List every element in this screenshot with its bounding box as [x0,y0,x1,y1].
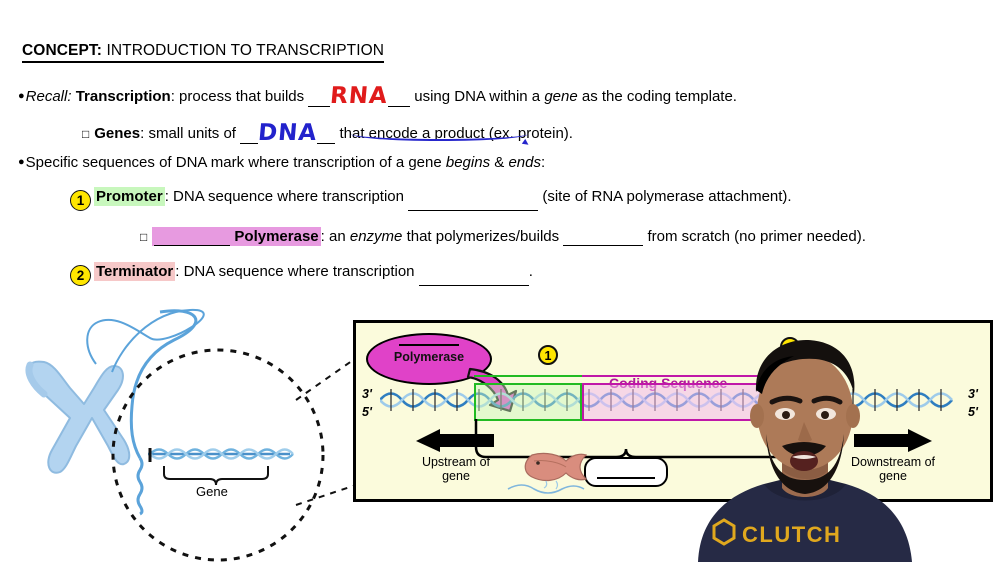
lecture-notes: CONCEPT: INTRODUCTION TO TRANSCRIPTION R… [0,0,1000,300]
promoter-region-box [474,383,582,421]
polymerase-callout-label: Polymerase [368,350,490,364]
page-title: CONCEPT: INTRODUCTION TO TRANSCRIPTION [22,42,384,63]
concept-title-text: INTRODUCTION TO TRANSCRIPTION [106,42,384,59]
salmon-fish-icon [502,449,612,495]
note-line-terminator: 2Terminator: DNA sequence where transcri… [70,264,533,286]
line5-text-after: : an [321,228,346,245]
line3-text: Specific sequences of DNA mark where tra… [26,154,442,171]
line4-text-before: : DNA sequence where transcription [165,188,404,205]
line2-text-before: : small units of [140,125,236,142]
polymerase-blank-line [399,344,459,346]
genes-term: Genes [94,125,140,142]
instructor-video-overlay[interactable]: CLUTCH [690,330,920,562]
line5-text-mid: that polymerizes/builds [407,228,560,245]
line3-amp: & [494,154,504,171]
line3-italic-ends: ends [508,154,541,171]
panel-marker-1: 1 [538,345,558,365]
prime-5-right: 5' [968,405,978,419]
note-line-polymerase: Polymerase: an enzyme that polymerizes/b… [140,229,866,246]
line3-colon: : [541,154,545,171]
handwritten-rna-answer: RNA [329,84,389,109]
line1-italic-gene: gene [544,88,577,105]
note-line-recall: Recall: Transcription: process that buil… [18,82,737,107]
marker-2-circle: 2 [70,265,91,286]
line1-text-before: : process that builds [171,88,304,105]
transcription-term: Transcription [76,88,171,105]
chromosome-svg [0,300,360,562]
chromosome-illustration: Gene [0,300,360,562]
instructor-portrait: CLUTCH [690,330,920,562]
prime-3-left: 3' [362,387,372,401]
promoter-top-line [474,375,582,377]
line4-text-after: (site of RNA polymerase attachment). [542,188,791,205]
clutch-wordmark: CLUTCH [742,522,841,547]
line3-italic-begins: begins [446,154,490,171]
gene-label: Gene [196,484,228,499]
note-line-sequences: Specific sequences of DNA mark where tra… [18,155,545,172]
line1-text-after: using DNA within a [414,88,540,105]
upstream-line-2: gene [398,469,514,483]
prime-3-right: 3' [968,387,978,401]
note-line-promoter: 1Promoter: DNA sequence where transcript… [70,189,792,211]
concept-label: CONCEPT: [22,42,102,59]
handwritten-dna-answer: DNA [257,121,318,146]
prime-5-left: 5' [362,405,372,419]
note-line-genes: Genes: small units of DNA that encode a … [82,119,573,144]
line5-italic-enzyme: enzyme [350,228,403,245]
polymerase-term: Polymerase [234,228,318,245]
recall-label: Recall: [26,88,72,105]
dna-strand-inset [148,448,293,462]
line6-text-after: . [529,263,533,280]
line1-text-end: as the coding template. [582,88,737,105]
terminator-term: Terminator [94,262,175,281]
line6-text-before: : DNA sequence where transcription [175,263,414,280]
promoter-term: Promoter [94,187,165,206]
line5-text-end: from scratch (no primer needed). [647,228,865,245]
marker-1-circle: 1 [70,190,91,211]
